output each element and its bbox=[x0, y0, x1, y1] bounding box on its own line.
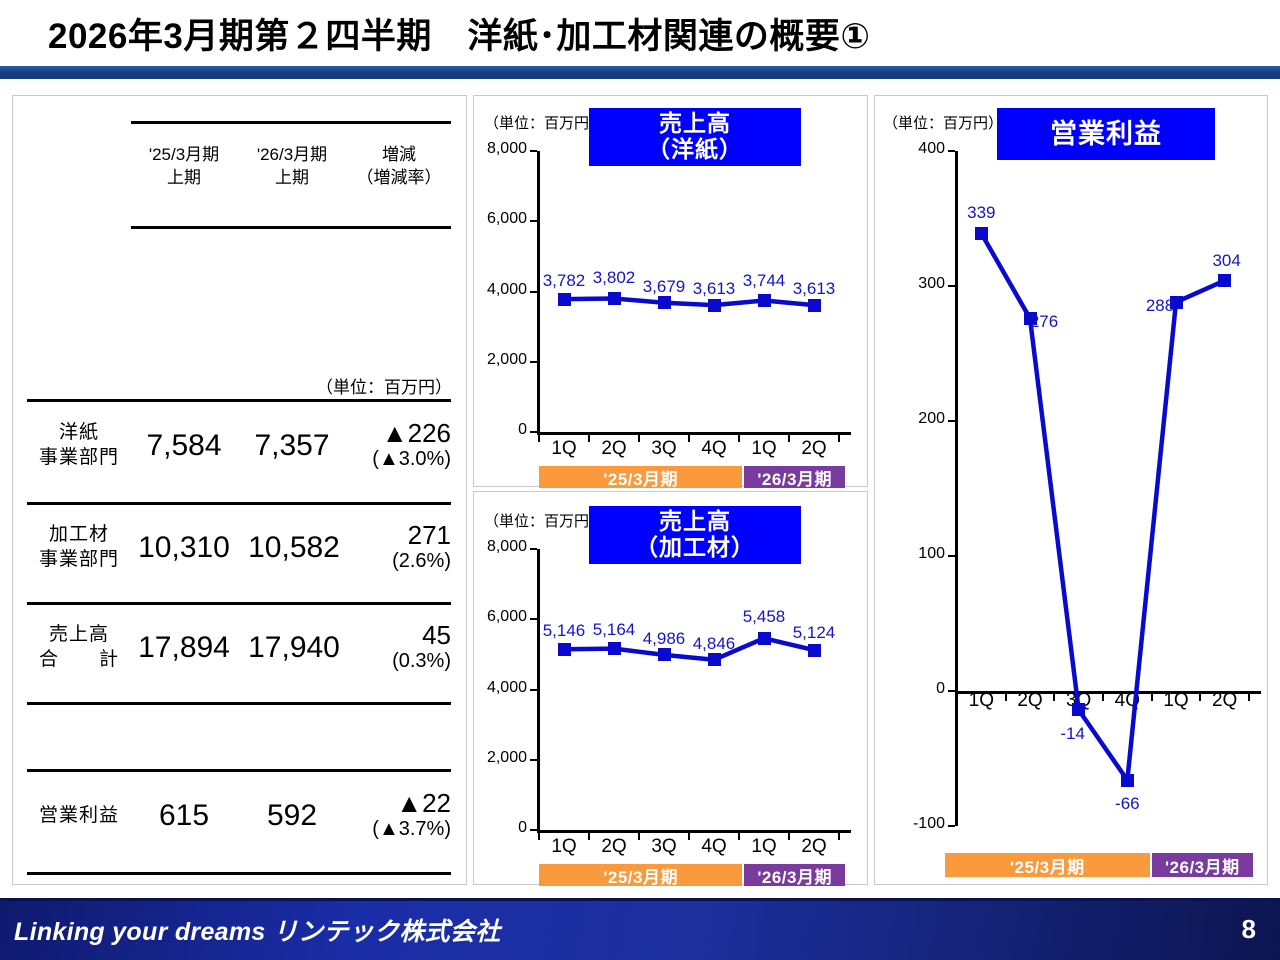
table-rule-top bbox=[131, 121, 451, 124]
table-row-label-2: 売上高 合 計 bbox=[27, 605, 131, 691]
operating-profit-y-tick bbox=[948, 285, 955, 287]
sales-yoshi-marker bbox=[808, 299, 821, 312]
table-row-label-0-line1: 洋紙 bbox=[27, 421, 131, 446]
table-row-delta-value-2: 45 bbox=[343, 622, 451, 649]
sales-kakouzai-period-bar-cur: '26/3月期 bbox=[744, 864, 845, 886]
page-title: 2026年3月期第２四半期 洋紙･加工材関連の概要① bbox=[0, 0, 1280, 66]
table-row-label-1: 加工材 事業部門 bbox=[27, 505, 131, 591]
sales-yoshi-y-tick bbox=[530, 150, 537, 152]
table-row-delta-rate-3: (▲3.7%) bbox=[343, 817, 451, 842]
table-row-cur-1: 10,582 bbox=[235, 505, 353, 591]
company-logo-text: Linking your dreams リンテック株式会社 bbox=[14, 912, 501, 948]
operating-profit-x-tick-label: 2Q bbox=[1195, 690, 1255, 712]
table-row-delta-0: ▲226 (▲3.0%) bbox=[343, 402, 451, 490]
table-row-label-3: 営業利益 bbox=[27, 772, 131, 860]
table-row-prev-0: 7,584 bbox=[131, 402, 237, 490]
operating-profit-y-tick-label: -100 bbox=[879, 815, 945, 833]
sales-yoshi-marker bbox=[758, 294, 771, 307]
operating-profit-data-label: -66 bbox=[1091, 794, 1163, 814]
sales-kakouzai-y-tick-label: 8,000 bbox=[461, 538, 527, 556]
table-row-cur-3: 592 bbox=[239, 772, 345, 860]
operating-profit-y-tick bbox=[948, 150, 955, 152]
operating-profit-chart-panel: （単位：百万円） 営業利益 4003002001000-1001Q2Q3Q4Q1… bbox=[874, 95, 1268, 885]
sales-kakouzai-y-tick-label: 6,000 bbox=[461, 608, 527, 626]
table-row-delta-2: 45 (0.3%) bbox=[343, 605, 451, 691]
sales-yoshi-y-tick-label: 8,000 bbox=[461, 140, 527, 158]
sales-yoshi-y-tick-label: 4,000 bbox=[461, 281, 527, 299]
sales-yoshi-y-tick bbox=[530, 431, 537, 433]
slide-footer: Linking your dreams リンテック株式会社 8 bbox=[0, 898, 1280, 960]
table-row-label-1-line2: 事業部門 bbox=[27, 548, 131, 573]
operating-profit-data-label: 304 bbox=[1191, 251, 1263, 271]
sales-yoshi-marker bbox=[658, 296, 671, 309]
table-row-label-3-line1: 営業利益 bbox=[27, 804, 131, 829]
sales-yoshi-period-bar-cur: '26/3月期 bbox=[744, 466, 845, 488]
sales-yoshi-period-bar-prev: '25/3月期 bbox=[539, 466, 742, 488]
sales-kakouzai-y-tick bbox=[530, 759, 537, 761]
sales-yoshi-y-tick bbox=[530, 361, 537, 363]
operating-profit-y-tick-label: 400 bbox=[879, 140, 945, 158]
sales-yoshi-data-label: 3,613 bbox=[778, 279, 850, 299]
sales-kakouzai-marker bbox=[808, 644, 821, 657]
table-rule-row3-bottom bbox=[27, 702, 451, 705]
sales-kakouzai-chart-panel: （単位：百万円） 売上高 （加工材） 8,0006,0004,0002,0000… bbox=[473, 491, 868, 885]
table-header-delta: 増減 （増減率） bbox=[347, 136, 451, 198]
table-row-prev-2: 17,894 bbox=[125, 605, 243, 691]
table-header-prev: '25/3月期 上期 bbox=[131, 136, 237, 198]
operating-profit-data-label: 339 bbox=[945, 203, 1017, 223]
table-row-delta-value-0: ▲226 bbox=[343, 420, 451, 447]
table-rule-bottom bbox=[27, 872, 451, 875]
table-header-prev-line2: 上期 bbox=[131, 167, 237, 190]
page-title-text: 2026年3月期第２四半期 洋紙･加工材関連の概要① bbox=[48, 8, 870, 59]
table-header-cur-line2: 上期 bbox=[239, 167, 345, 190]
sales-kakouzai-y-tick bbox=[530, 618, 537, 620]
operating-profit-y-tick bbox=[948, 825, 955, 827]
table-row-delta-1: 271 (2.6%) bbox=[343, 505, 451, 591]
sales-yoshi-chart-panel: （単位：百万円） 売上高 （洋紙） 8,0006,0004,0002,00001… bbox=[473, 95, 868, 487]
table-header-cur: '26/3月期 上期 bbox=[239, 136, 345, 198]
sales-yoshi-x-axis bbox=[537, 432, 851, 435]
sales-kakouzai-x-axis bbox=[537, 830, 851, 833]
sales-yoshi-marker bbox=[558, 293, 571, 306]
sales-yoshi-y-axis bbox=[537, 151, 540, 432]
table-row-delta-rate-2: (0.3%) bbox=[343, 649, 451, 674]
table-header-prev-line1: '25/3月期 bbox=[131, 144, 237, 167]
sales-kakouzai-y-axis bbox=[537, 549, 540, 830]
operating-profit-y-tick bbox=[948, 420, 955, 422]
sales-yoshi-x-tick-label: 2Q bbox=[784, 438, 844, 460]
table-row-label-2-line2: 合 計 bbox=[27, 648, 131, 673]
sales-kakouzai-marker bbox=[608, 642, 621, 655]
sales-kakouzai-data-label: 5,124 bbox=[778, 623, 850, 643]
operating-profit-period-bar-cur: '26/3月期 bbox=[1152, 853, 1253, 877]
sales-kakouzai-y-tick bbox=[530, 689, 537, 691]
sales-yoshi-y-tick-label: 2,000 bbox=[461, 351, 527, 369]
table-unit-note: （単位：百万円） bbox=[316, 373, 452, 398]
table-header-delta-line1: 増減 bbox=[347, 144, 451, 167]
sales-kakouzai-marker bbox=[558, 643, 571, 656]
table-row-delta-value-1: 271 bbox=[343, 522, 451, 549]
sales-kakouzai-y-tick-label: 0 bbox=[461, 819, 527, 837]
operating-profit-series-line bbox=[875, 96, 1267, 884]
financial-summary-panel: '25/3月期 上期 '26/3月期 上期 増減 （増減率） （単位：百万円） … bbox=[12, 95, 467, 885]
sales-yoshi-y-tick-label: 0 bbox=[461, 421, 527, 439]
table-header-cur-line1: '26/3月期 bbox=[239, 144, 345, 167]
sales-yoshi-marker bbox=[708, 299, 721, 312]
operating-profit-data-label: 276 bbox=[1008, 312, 1080, 332]
sales-kakouzai-marker bbox=[758, 632, 771, 645]
operating-profit-y-tick bbox=[948, 555, 955, 557]
sales-yoshi-marker bbox=[608, 292, 621, 305]
table-row-delta-3: ▲22 (▲3.7%) bbox=[343, 772, 451, 860]
sales-kakouzai-period-bar-prev: '25/3月期 bbox=[539, 864, 742, 886]
sales-kakouzai-y-tick bbox=[530, 829, 537, 831]
operating-profit-period-bar-prev: '25/3月期 bbox=[945, 853, 1150, 877]
footer-top-edge bbox=[0, 898, 1280, 901]
sales-yoshi-y-tick bbox=[530, 220, 537, 222]
table-row-prev-3: 615 bbox=[131, 772, 237, 860]
table-row-label-2-line1: 売上高 bbox=[27, 623, 131, 648]
table-rule-under-header bbox=[131, 226, 451, 229]
financial-table: '25/3月期 上期 '26/3月期 上期 増減 （増減率） （単位：百万円） … bbox=[13, 96, 466, 884]
operating-profit-marker bbox=[1072, 703, 1085, 716]
operating-profit-y-tick-label: 0 bbox=[879, 680, 945, 698]
sales-yoshi-y-tick-label: 6,000 bbox=[461, 210, 527, 228]
operating-profit-marker bbox=[1218, 274, 1231, 287]
sales-kakouzai-marker bbox=[658, 648, 671, 661]
sales-kakouzai-plot: 8,0006,0004,0002,00001Q2Q3Q4Q1Q2Q5,1465,… bbox=[474, 492, 867, 884]
table-row-delta-value-3: ▲22 bbox=[343, 790, 451, 817]
sales-kakouzai-x-tick-label: 2Q bbox=[784, 836, 844, 858]
operating-profit-y-tick-label: 200 bbox=[879, 410, 945, 428]
operating-profit-data-label: 288 bbox=[1124, 296, 1196, 316]
table-row-label-0-line2: 事業部門 bbox=[27, 446, 131, 471]
table-row-cur-2: 17,940 bbox=[235, 605, 353, 691]
table-row-cur-0: 7,357 bbox=[239, 402, 345, 490]
operating-profit-plot: 4003002001000-1001Q2Q3Q4Q1Q2Q339276-14-6… bbox=[875, 96, 1267, 884]
sales-kakouzai-y-tick-label: 2,000 bbox=[461, 749, 527, 767]
table-row-prev-1: 10,310 bbox=[125, 505, 243, 591]
operating-profit-y-tick-label: 300 bbox=[879, 275, 945, 293]
table-row-label-1-line1: 加工材 bbox=[27, 523, 131, 548]
operating-profit-y-tick-label: 100 bbox=[879, 545, 945, 563]
sales-kakouzai-y-tick bbox=[530, 548, 537, 550]
operating-profit-marker bbox=[975, 227, 988, 240]
table-header-delta-line2: （増減率） bbox=[347, 167, 451, 190]
sales-kakouzai-data-label: 4,846 bbox=[678, 634, 750, 654]
table-row-delta-rate-1: (2.6%) bbox=[343, 549, 451, 574]
title-divider bbox=[0, 66, 1280, 79]
sales-kakouzai-marker bbox=[708, 653, 721, 666]
sales-yoshi-plot: 8,0006,0004,0002,00001Q2Q3Q4Q1Q2Q3,7823,… bbox=[474, 96, 867, 486]
operating-profit-marker bbox=[1121, 774, 1134, 787]
operating-profit-data-label: -14 bbox=[1037, 724, 1109, 744]
operating-profit-y-axis bbox=[955, 151, 958, 826]
table-row-label-0: 洋紙 事業部門 bbox=[27, 402, 131, 490]
page-number: 8 bbox=[1242, 914, 1256, 945]
table-row-delta-rate-0: (▲3.0%) bbox=[343, 447, 451, 472]
sales-kakouzai-y-tick-label: 4,000 bbox=[461, 679, 527, 697]
